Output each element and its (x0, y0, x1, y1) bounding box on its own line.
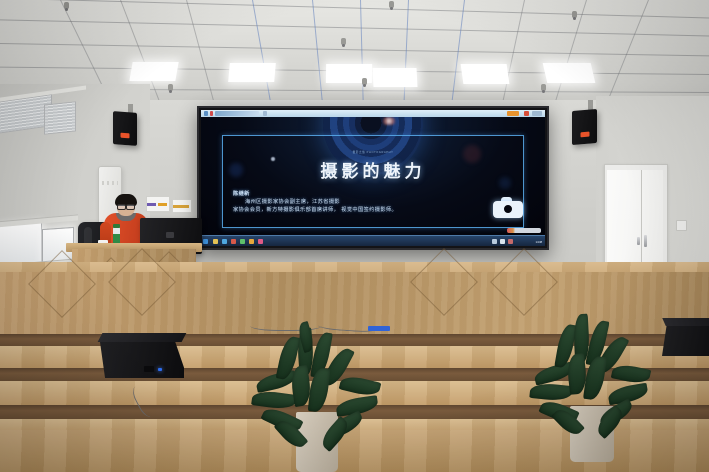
bio-line-2: 家协会会员，新方特摄影俱乐部首席讲师， (233, 207, 339, 213)
led-video-wall: 摄影之旅 PHOTOGRAPHY 摄影的魅力 陈继新 海州区摄影家协会副主席，江… (197, 106, 549, 250)
sprinkler-head (341, 38, 346, 45)
sprinkler-head (572, 11, 577, 18)
heart-icon[interactable] (258, 239, 263, 244)
start-button[interactable] (203, 239, 208, 244)
tray-icon[interactable] (500, 239, 505, 244)
presentation-slide: 摄影之旅 PHOTOGRAPHY 摄影的魅力 陈继新 海州区摄影家协会副主席，江… (201, 117, 545, 236)
app-icon[interactable] (249, 239, 254, 244)
potted-plant-left (252, 322, 382, 472)
slide-title: 摄影的魅力 (201, 157, 545, 182)
ceiling-light-panel (543, 63, 596, 83)
door-handle[interactable] (637, 237, 640, 245)
poster-stripe (147, 203, 156, 206)
app-icon[interactable] (240, 239, 245, 244)
ceiling-light-panel (228, 63, 276, 82)
potted-plant-right (532, 312, 652, 462)
lecture-hall-photo: 摄影之旅 PHOTOGRAPHY 摄影的魅力 陈继新 海州区摄影家协会副主席，江… (0, 0, 709, 472)
ceiling-light-panel (129, 62, 178, 81)
tray-icon[interactable] (508, 239, 513, 244)
poster-stripe (173, 205, 189, 208)
windows-taskbar[interactable]: 14:38 (201, 235, 545, 246)
sprinkler-head (168, 84, 173, 91)
clerestory-window (44, 101, 76, 134)
file-explorer-icon[interactable] (213, 239, 218, 244)
sprinkler-head (64, 2, 69, 9)
bio-line-1: 海州区摄影家协会副主席，江苏省摄影 (233, 198, 443, 206)
sprinkler-head (362, 78, 367, 85)
stage-monitor-right (662, 322, 709, 356)
bio-line-3: 视觉中国签约摄影师。 (341, 207, 397, 213)
jbl-logo (121, 132, 130, 138)
stage-monitor-top-face (98, 333, 187, 342)
jbl-wall-speaker-right (572, 109, 597, 145)
poster-stripe (158, 203, 167, 206)
taskbar-clock: 14:38 (535, 240, 542, 244)
tray-icon[interactable] (492, 239, 497, 244)
camera-icon (493, 197, 523, 218)
slide-subtitle: 摄影之旅 PHOTOGRAPHY (353, 150, 394, 154)
door-handle[interactable] (644, 235, 647, 247)
sprinkler-head (541, 84, 546, 91)
ceiling-light-panel (373, 68, 418, 87)
app-icon[interactable] (231, 239, 236, 244)
eyeglasses (117, 204, 135, 208)
sprinkler-head (389, 1, 394, 8)
screen-display: 摄影之旅 PHOTOGRAPHY 摄影的魅力 陈继新 海州区摄影家协会副主席，江… (201, 110, 545, 246)
stage-monitor-left (100, 338, 184, 378)
ceiling-light-panel (461, 64, 510, 84)
browser-tab-title[interactable] (215, 111, 259, 116)
speaker-bio-block: 陈继新 海州区摄影家协会副主席，江苏省摄影 家协会会员，新方特摄影俱乐部首席讲师… (233, 190, 443, 214)
slide-watermark-badge (507, 228, 541, 233)
jbl-logo (580, 131, 589, 137)
browser-icon[interactable] (222, 239, 227, 244)
light-switch[interactable] (676, 220, 687, 231)
stage-monitor-top-face (662, 318, 709, 326)
jbl-wall-speaker-left (113, 111, 137, 146)
speaker-name: 陈继新 (233, 190, 443, 198)
